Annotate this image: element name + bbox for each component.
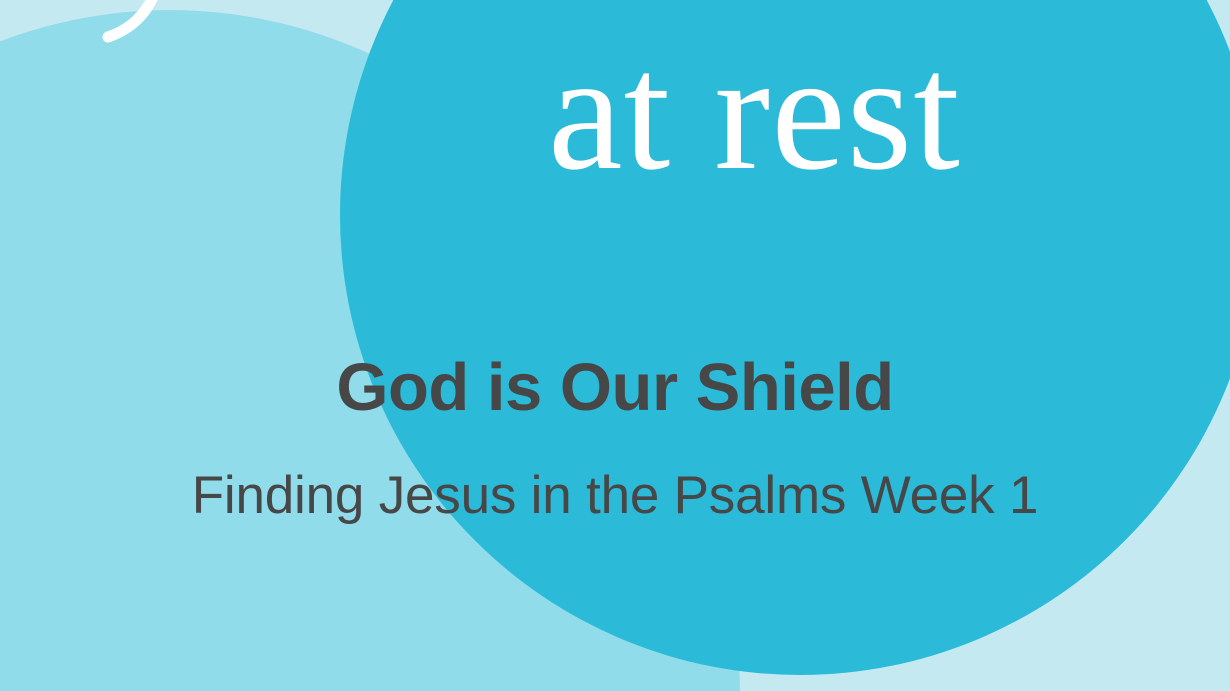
series-title-at-rest: at rest <box>0 28 1230 196</box>
title-slide: at rest God is Our Shield Finding Jesus … <box>0 0 1230 691</box>
page-title: God is Our Shield <box>0 354 1230 421</box>
text-layer: at rest God is Our Shield Finding Jesus … <box>0 0 1230 691</box>
page-subtitle: Finding Jesus in the Psalms Week 1 <box>0 469 1230 522</box>
